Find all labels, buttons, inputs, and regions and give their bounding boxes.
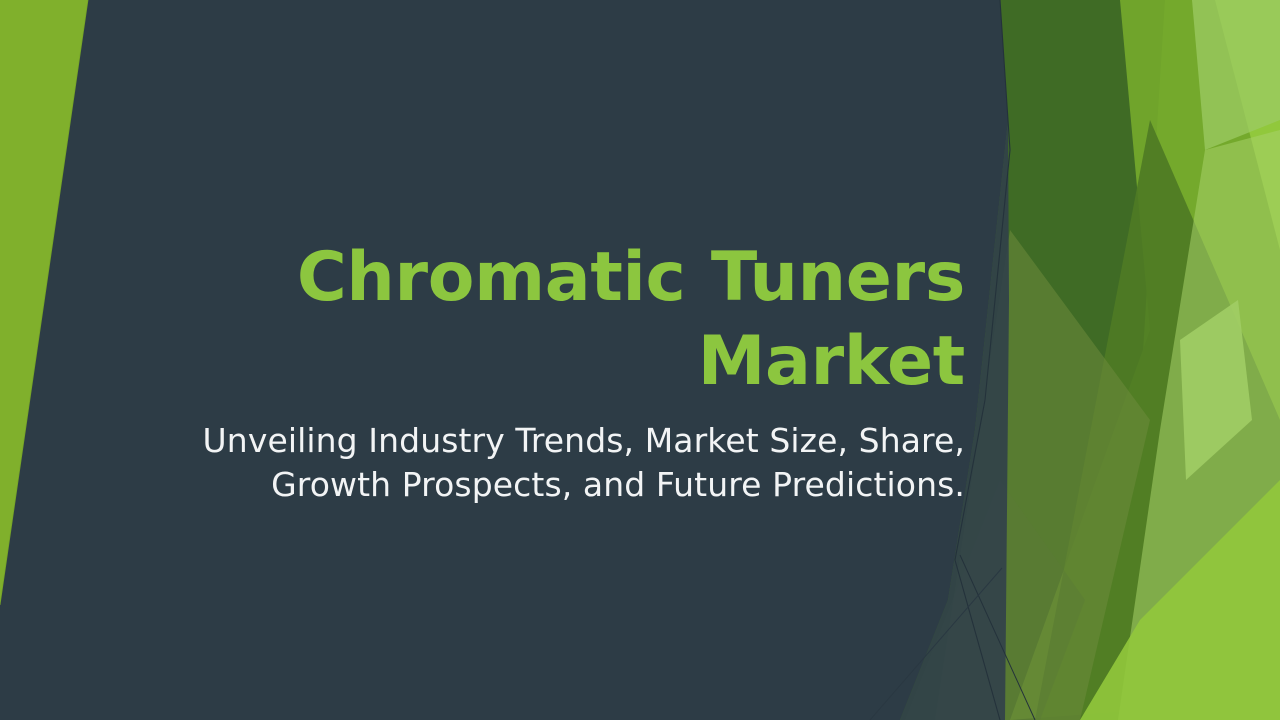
- title-slide: Chromatic TunersMarket Unveiling Industr…: [0, 0, 1280, 720]
- title-line-2: Market: [698, 322, 965, 401]
- subtitle-line-1: Unveiling Industry Trends, Market Size, …: [203, 421, 965, 460]
- page-title: Chromatic TunersMarket: [120, 236, 965, 405]
- title-line-1: Chromatic Tuners: [297, 238, 965, 317]
- title-text-block: Chromatic TunersMarket Unveiling Industr…: [120, 236, 965, 508]
- page-subtitle: Unveiling Industry Trends, Market Size, …: [120, 419, 965, 508]
- subtitle-line-2: Growth Prospects, and Future Predictions…: [271, 465, 965, 504]
